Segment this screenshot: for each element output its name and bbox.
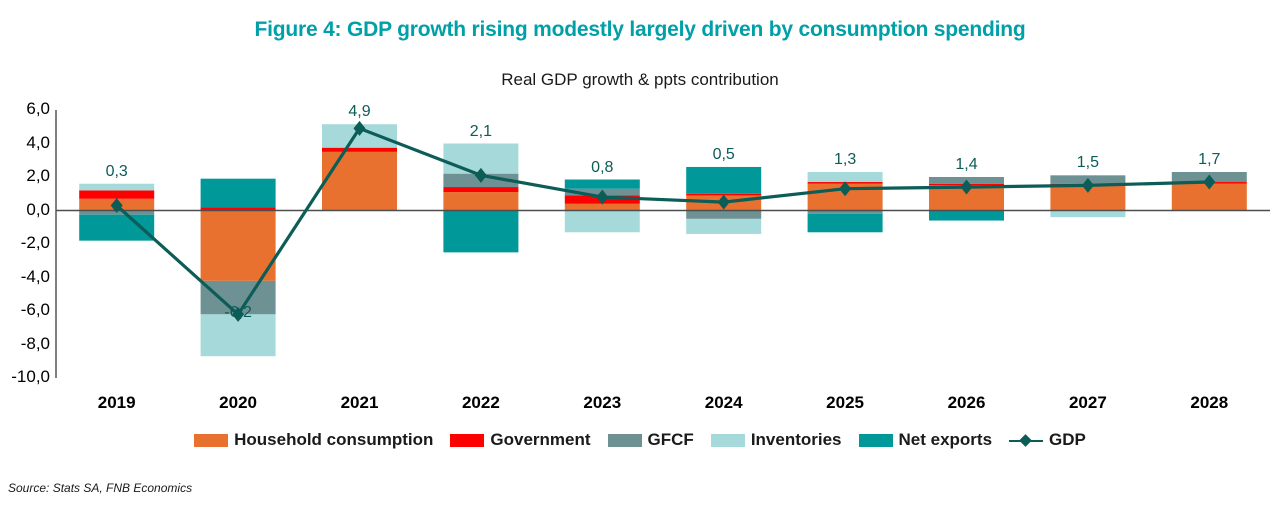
gdp-value-label-2026: 1,4	[907, 156, 1027, 174]
y-tick-label: 6,0	[0, 99, 50, 119]
bar-segment-2025-net-exports	[808, 214, 883, 232]
legend-label: GFCF	[648, 430, 694, 450]
bar-segment-2023-inventories	[565, 211, 640, 233]
bar-segment-2022-government	[443, 187, 518, 192]
bar-segment-2019-inventories	[79, 184, 154, 191]
bar-segment-2027-inventories	[1050, 211, 1125, 218]
gdp-value-label-2028: 1,7	[1149, 151, 1269, 169]
bar-segment-2026-net-exports	[929, 211, 1004, 221]
bar-segment-2024-gfcf	[686, 211, 761, 219]
bar-segment-2024-net-exports	[686, 167, 761, 194]
gdp-value-label-2023: 0,8	[542, 159, 662, 177]
bar-segment-2021-government	[322, 148, 397, 152]
gdp-value-label-2019: 0,3	[57, 163, 177, 181]
bar-segment-2019-government	[79, 190, 154, 198]
bar-segment-2025-inventories	[808, 172, 883, 182]
x-tick-label-2019: 2019	[57, 393, 177, 413]
gdp-value-label-2020: -6,2	[178, 304, 298, 322]
y-tick-label: -6,0	[0, 300, 50, 320]
legend-swatch-icon	[450, 434, 484, 447]
source-note: Source: Stats SA, FNB Economics	[8, 481, 192, 495]
y-tick-label: -2,0	[0, 233, 50, 253]
gdp-value-label-2027: 1,5	[1028, 154, 1148, 172]
bar-segment-2022-household-consumption	[443, 192, 518, 210]
legend-swatch-icon	[711, 434, 745, 447]
chart-legend: Household consumptionGovernmentGFCFInven…	[0, 430, 1280, 450]
bar-segment-2024-inventories	[686, 219, 761, 234]
legend-item-net-exports[interactable]: Net exports	[859, 430, 993, 450]
legend-line-marker-icon	[1009, 434, 1043, 447]
gdp-value-label-2021: 4,9	[300, 103, 420, 121]
legend-swatch-icon	[859, 434, 893, 447]
legend-label: Government	[490, 430, 590, 450]
x-tick-label-2023: 2023	[542, 393, 662, 413]
bar-segment-2023-household-consumption	[565, 204, 640, 211]
gdp-value-label-2022: 2,1	[421, 123, 541, 141]
legend-item-gdp[interactable]: GDP	[1009, 430, 1086, 450]
gdp-value-label-2025: 1,3	[785, 151, 905, 169]
legend-label: GDP	[1049, 430, 1086, 450]
y-tick-label: -8,0	[0, 334, 50, 354]
legend-item-inventories[interactable]: Inventories	[711, 430, 842, 450]
legend-swatch-icon	[608, 434, 642, 447]
x-tick-label-2028: 2028	[1149, 393, 1269, 413]
bar-segment-2020-net-exports	[201, 179, 276, 207]
legend-label: Net exports	[899, 430, 993, 450]
y-tick-label: 0,0	[0, 200, 50, 220]
bar-segment-2020-household-consumption	[201, 211, 276, 281]
legend-item-government[interactable]: Government	[450, 430, 590, 450]
gdp-value-label-2024: 0,5	[664, 146, 784, 164]
bar-segment-2021-household-consumption	[322, 152, 397, 211]
legend-swatch-icon	[194, 434, 228, 447]
legend-item-household-consumption[interactable]: Household consumption	[194, 430, 433, 450]
legend-label: Inventories	[751, 430, 842, 450]
legend-label: Household consumption	[234, 430, 433, 450]
bar-segment-2023-net-exports	[565, 180, 640, 189]
x-tick-label-2027: 2027	[1028, 393, 1148, 413]
x-tick-label-2020: 2020	[178, 393, 298, 413]
x-tick-label-2026: 2026	[907, 393, 1027, 413]
legend-item-gfcf[interactable]: GFCF	[608, 430, 694, 450]
x-tick-label-2024: 2024	[664, 393, 784, 413]
bar-segment-2022-net-exports	[443, 211, 518, 253]
y-tick-label: -10,0	[0, 367, 50, 387]
y-tick-label: 4,0	[0, 133, 50, 153]
x-tick-label-2025: 2025	[785, 393, 905, 413]
y-tick-label: -4,0	[0, 267, 50, 287]
y-tick-label: 2,0	[0, 166, 50, 186]
x-tick-label-2021: 2021	[300, 393, 420, 413]
x-tick-label-2022: 2022	[421, 393, 541, 413]
